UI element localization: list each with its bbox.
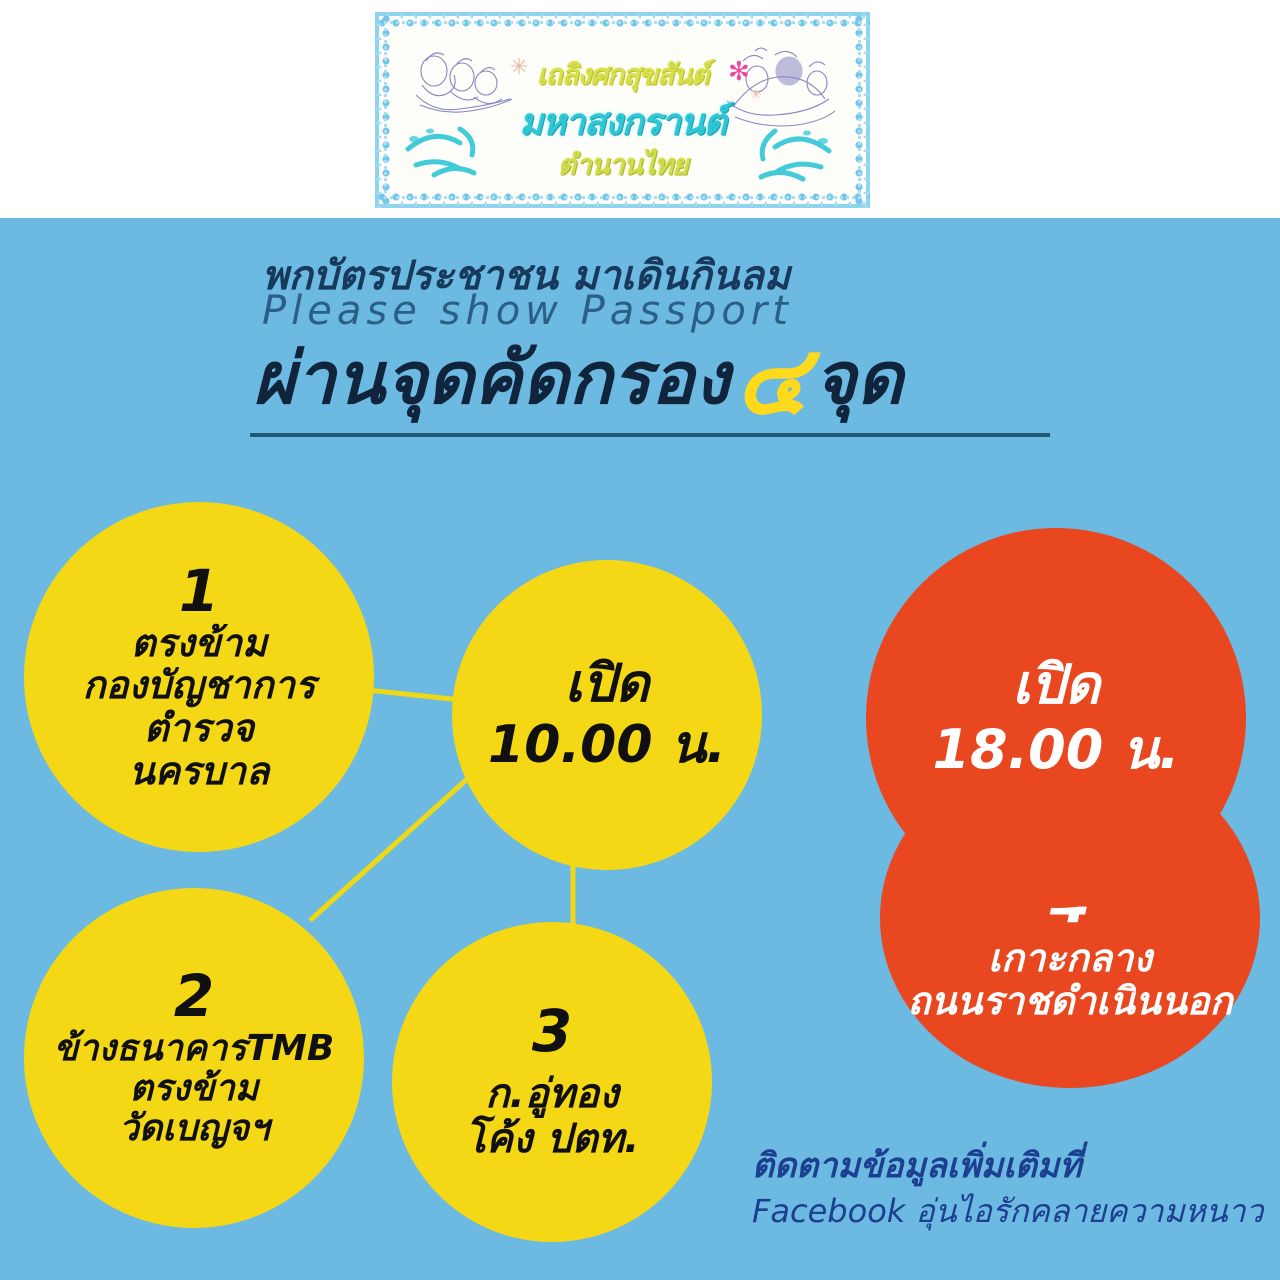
heading-main-suffix: จุด <box>814 336 903 420</box>
poster-root: ✳ ✻ ✳ เถลิงศกสุขสันต์ มหาสงกรานต์ ตำนานไ… <box>0 0 1280 1280</box>
opening-day-time: 10.00 น. <box>488 715 726 776</box>
checkpoint-4-line-1: เกาะกลาง <box>907 937 1232 980</box>
logo-title-line-1: เถลิงศกสุขสันต์ <box>398 53 847 97</box>
checkpoint-2-line-1: ข้างธนาคารTMB <box>54 1029 335 1069</box>
checkpoint-3-line-2: โค้ง ปตท. <box>465 1117 640 1162</box>
checkpoint-bubble-2[interactable]: 2 ข้างธนาคารTMB ตรงข้าม วัดเบญจฯ <box>24 888 364 1228</box>
checkpoint-3-line-1: ก.อู่ทอง <box>465 1072 640 1117</box>
checkpoint-description-4: เกาะกลาง ถนนราชดำเนินนอก <box>907 937 1232 1022</box>
checkpoint-4-line-2: ถนนราชดำเนินนอก <box>907 980 1232 1023</box>
opening-day-label: เปิด <box>488 654 726 715</box>
checkpoint-description-2: ข้างธนาคารTMB ตรงข้าม วัดเบญจฯ <box>54 1029 335 1150</box>
checkpoint-2-line-3: วัดเบญจฯ <box>54 1109 335 1149</box>
opening-time-night-bubble[interactable]: เปิด 18.00 น. <box>866 528 1246 908</box>
checkpoint-1-line-3: ตำรวจ <box>83 707 316 750</box>
checkpoint-description-3: ก.อู่ทอง โค้ง ปตท. <box>465 1072 640 1162</box>
header-band: ✳ ✻ ✳ เถลิงศกสุขสันต์ มหาสงกรานต์ ตำนานไ… <box>0 0 1280 218</box>
heading-english-line: Please show Passport <box>262 288 793 334</box>
opening-time-night-text: เปิด 18.00 น. <box>932 653 1179 783</box>
footer-line-2: Facebook อุ่นไอรักคลายความหนาว <box>752 1191 1272 1233</box>
checkpoint-1-line-4: นครบาล <box>83 750 316 793</box>
checkpoint-bubble-3[interactable]: 3 ก.อู่ทอง โค้ง ปตท. <box>392 922 712 1242</box>
logo-title-line-3: ตำนานไทย <box>398 143 847 185</box>
checkpoint-1-line-1: ตรงข้าม <box>83 622 316 665</box>
logo-frame: ✳ ✻ ✳ เถลิงศกสุขสันต์ มหาสงกรานต์ ตำนานไ… <box>375 12 870 208</box>
opening-night-time: 18.00 น. <box>932 718 1179 783</box>
heading-main-line: ผ่านจุดคัดกรอง๔จุด <box>253 332 903 428</box>
checkpoint-number-3: 3 <box>532 1002 572 1060</box>
opening-time-day-bubble[interactable]: เปิด 10.00 น. <box>452 560 762 870</box>
opening-night-label: เปิด <box>932 653 1179 718</box>
checkpoint-number-2: 2 <box>174 967 214 1025</box>
opening-time-day-text: เปิด 10.00 น. <box>488 654 726 777</box>
checkpoint-description-1: ตรงข้าม กองบัญชาการ ตำรวจ นครบาล <box>83 622 316 792</box>
checkpoint-1-line-2: กองบัญชาการ <box>83 664 316 707</box>
checkpoint-bubble-1[interactable]: 1 ตรงข้าม กองบัญชาการ ตำรวจ นครบาล <box>24 502 374 852</box>
checkpoint-2-line-2: ตรงข้าม <box>54 1069 335 1109</box>
heading-thai-numeral-four: ๔ <box>729 324 814 436</box>
footer-contact: ติดตามข้อมูลเพิ่มเติมที่ Facebook อุ่นไอ… <box>752 1146 1272 1232</box>
heading-main-prefix: ผ่านจุดคัดกรอง <box>253 336 729 420</box>
logo-title-line-2: มหาสงกรานต์ <box>398 93 847 150</box>
footer-line-1: ติดตามข้อมูลเพิ่มเติมที่ <box>752 1146 1272 1187</box>
logo-inner: ✳ ✻ ✳ เถลิงศกสุขสันต์ มหาสงกรานต์ ตำนานไ… <box>398 35 847 185</box>
heading-underline-rule <box>250 433 1050 437</box>
checkpoint-number-1: 1 <box>179 562 219 620</box>
